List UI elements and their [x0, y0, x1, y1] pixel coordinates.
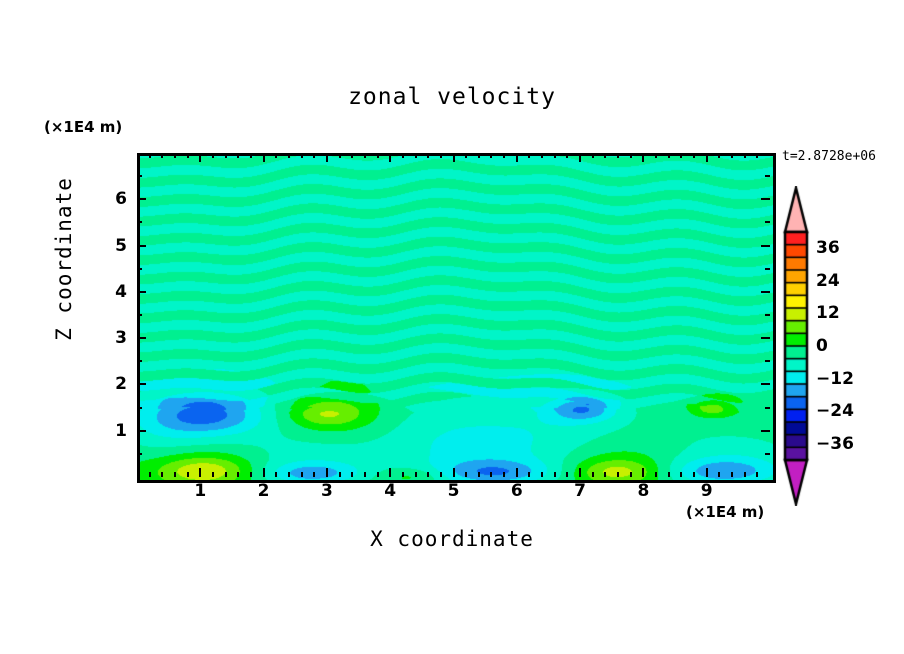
x-tick	[756, 153, 758, 158]
x-tick	[402, 472, 404, 477]
x-tick	[149, 472, 151, 477]
x-tick	[465, 472, 467, 477]
x-tick	[604, 472, 606, 477]
x-tick-label: 5	[448, 481, 460, 501]
x-tick	[174, 472, 176, 477]
x-tick	[731, 153, 733, 158]
x-tick	[263, 153, 265, 162]
y-tick	[137, 268, 142, 270]
y-tick	[765, 314, 770, 316]
y-tick	[137, 221, 142, 223]
x-tick	[313, 472, 315, 477]
figure-canvas: zonal velocity (×1E4 m) (×1E4 m) t=2.872…	[0, 0, 904, 654]
x-axis-title: X coordinate	[0, 527, 904, 551]
x-tick	[490, 472, 492, 477]
x-tick	[339, 153, 341, 158]
y-axis-title: Z coordinate	[52, 159, 76, 359]
x-tick	[592, 153, 594, 158]
x-tick	[756, 472, 758, 477]
x-tick	[706, 468, 708, 477]
y-tick	[137, 291, 146, 293]
y-tick	[137, 430, 146, 432]
x-tick	[503, 153, 505, 158]
x-tick	[744, 472, 746, 477]
x-tick	[630, 153, 632, 158]
x-tick	[364, 472, 366, 477]
x-tick	[440, 153, 442, 158]
x-tick	[579, 153, 581, 162]
x-tick	[655, 153, 657, 158]
x-tick	[503, 472, 505, 477]
y-tick	[765, 221, 770, 223]
x-tick	[592, 472, 594, 477]
x-tick-label: 2	[258, 481, 270, 501]
y-tick	[137, 383, 146, 385]
y-tick	[137, 314, 142, 316]
x-tick	[149, 153, 151, 158]
x-tick	[415, 153, 417, 158]
x-tick	[187, 153, 189, 158]
x-tick-label: 6	[511, 481, 523, 501]
x-tick	[744, 153, 746, 158]
x-tick	[301, 472, 303, 477]
x-tick	[642, 153, 644, 162]
y-tick	[765, 268, 770, 270]
x-tick	[415, 472, 417, 477]
x-tick	[377, 472, 379, 477]
y-tick	[761, 337, 770, 339]
y-tick-label: 4	[115, 282, 127, 302]
x-tick	[579, 468, 581, 477]
colorbar-tick-label: −12	[816, 369, 854, 389]
y-tick	[761, 383, 770, 385]
x-tick-label: 4	[384, 481, 396, 501]
x-tick	[554, 472, 556, 477]
x-tick	[604, 153, 606, 158]
x-tick	[516, 153, 518, 162]
y-tick	[765, 453, 770, 455]
x-tick	[528, 153, 530, 158]
x-tick	[453, 468, 455, 477]
x-tick	[250, 472, 252, 477]
x-tick	[427, 472, 429, 477]
y-tick	[765, 175, 770, 177]
x-tick	[478, 153, 480, 158]
x-tick	[351, 153, 353, 158]
x-tick	[541, 153, 543, 158]
x-tick-label: 9	[701, 481, 713, 501]
x-tick	[237, 153, 239, 158]
x-tick	[630, 472, 632, 477]
x-tick-label: 3	[321, 481, 333, 501]
x-tick	[339, 472, 341, 477]
x-tick	[427, 153, 429, 158]
x-tick	[402, 153, 404, 158]
colorbar-tick-label: 0	[816, 336, 828, 356]
x-tick	[490, 153, 492, 158]
colorbar-tick-label: 36	[816, 238, 840, 258]
y-tick-label: 6	[115, 189, 127, 209]
y-tick	[765, 360, 770, 362]
x-tick	[617, 153, 619, 158]
x-tick-label: 8	[637, 481, 649, 501]
x-tick	[161, 472, 163, 477]
x-tick	[212, 472, 214, 477]
x-tick	[642, 468, 644, 477]
x-tick	[364, 153, 366, 158]
x-tick	[275, 153, 277, 158]
x-tick	[465, 153, 467, 158]
x-tick	[237, 472, 239, 477]
x-tick	[541, 472, 543, 477]
x-tick	[706, 153, 708, 162]
x-tick	[263, 468, 265, 477]
x-tick-label: 7	[574, 481, 586, 501]
y-tick	[137, 337, 146, 339]
x-tick	[326, 153, 328, 162]
x-tick	[680, 472, 682, 477]
x-tick	[668, 472, 670, 477]
x-tick	[389, 468, 391, 477]
x-tick	[199, 468, 201, 477]
colorbar-tick-label: 24	[816, 271, 840, 291]
x-tick	[161, 153, 163, 158]
x-tick	[187, 472, 189, 477]
x-tick	[453, 153, 455, 162]
x-tick	[275, 472, 277, 477]
x-tick	[225, 153, 227, 158]
y-tick-label: 5	[115, 236, 127, 256]
y-tick-label: 1	[115, 421, 127, 441]
y-tick	[761, 291, 770, 293]
x-tick	[288, 472, 290, 477]
x-tick	[566, 153, 568, 158]
x-tick	[617, 472, 619, 477]
y-tick	[137, 245, 146, 247]
y-tick-label: 3	[115, 328, 127, 348]
x-tick	[693, 153, 695, 158]
x-tick	[554, 153, 556, 158]
chart-title: zonal velocity	[0, 84, 904, 110]
x-tick	[718, 472, 720, 477]
colorbar	[779, 186, 813, 506]
contour-plot-area	[137, 153, 776, 483]
y-tick	[761, 198, 770, 200]
x-tick	[566, 472, 568, 477]
x-tick	[668, 153, 670, 158]
y-tick	[761, 430, 770, 432]
x-tick	[693, 472, 695, 477]
y-tick	[137, 175, 142, 177]
y-tick-label: 2	[115, 374, 127, 394]
y-tick	[137, 407, 142, 409]
x-tick	[516, 468, 518, 477]
x-tick	[288, 153, 290, 158]
x-tick	[250, 153, 252, 158]
y-tick	[137, 198, 146, 200]
y-tick	[761, 245, 770, 247]
x-tick	[199, 153, 201, 162]
x-tick-label: 1	[194, 481, 206, 501]
x-tick	[389, 153, 391, 162]
colorbar-tick-label: 12	[816, 303, 840, 323]
x-tick	[528, 472, 530, 477]
x-tick	[351, 472, 353, 477]
x-tick	[225, 472, 227, 477]
y-axis-unit-label: (×1E4 m)	[44, 118, 122, 136]
x-tick	[301, 153, 303, 158]
x-tick	[680, 153, 682, 158]
x-tick	[655, 472, 657, 477]
y-tick	[765, 407, 770, 409]
x-tick	[440, 472, 442, 477]
y-tick	[137, 360, 142, 362]
x-tick	[313, 153, 315, 158]
x-axis-unit-label: (×1E4 m)	[686, 503, 764, 521]
x-tick	[212, 153, 214, 158]
colorbar-tick-label: −24	[816, 401, 854, 421]
x-tick	[377, 153, 379, 158]
colorbar-tick-label: −36	[816, 434, 854, 454]
y-tick	[137, 453, 142, 455]
x-tick	[326, 468, 328, 477]
timestamp-annotation: t=2.8728e+06	[782, 149, 876, 164]
contour-field	[140, 156, 773, 480]
x-tick	[731, 472, 733, 477]
x-tick	[718, 153, 720, 158]
x-tick	[174, 153, 176, 158]
x-tick	[478, 472, 480, 477]
